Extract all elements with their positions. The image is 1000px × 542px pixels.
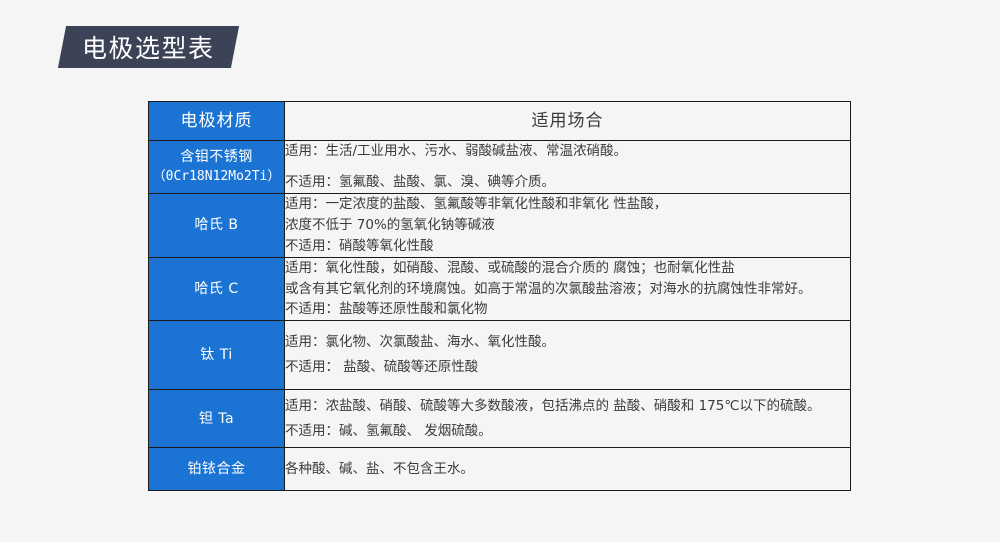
material-cell-platinum-iridium: 铂铱合金: [149, 448, 285, 491]
application-line: 或含有其它氧化剂的环境腐蚀。如高于常温的次氯酸盐溶液；对海水的抗腐蚀性非常好。: [285, 279, 850, 300]
table-row: 钛 Ti 适用：氯化物、次氯酸盐、海水、氧化性酸。 不适用： 盐酸、硫酸等还原性…: [149, 321, 851, 390]
table-row: 钽 Ta 适用：浓盐酸、硝酸、硫酸等大多数酸液，包括沸点的 盐酸、硝酸和 175…: [149, 390, 851, 448]
material-cell-hastelloy-c: 哈氏 C: [149, 257, 285, 321]
column-header-application: 适用场合: [285, 102, 851, 141]
application-line: 适用：生活/工业用水、污水、弱酸碱盐液、常温浓硝酸。: [285, 141, 850, 162]
electrode-selection-table-wrapper: 电极材质 适用场合 含钼不锈钢 （0Cr18N12Mo2Ti） 适用：生活/工业…: [148, 101, 851, 491]
table-row: 铂铱合金 各种酸、碱、盐、不包含王水。: [149, 448, 851, 491]
application-line: 不适用： 盐酸、硫酸等还原性酸: [285, 357, 850, 378]
application-line: 浓度不低于 70%的氢氧化钠等碱液: [285, 215, 850, 236]
table-row: 哈氏 B 适用：一定浓度的盐酸、氢氟酸等非氧化性酸和非氧化 性盐酸， 浓度不低于…: [149, 193, 851, 257]
material-code: （0Cr18N12Mo2Ti）: [149, 168, 284, 187]
material-name: 哈氏 C: [149, 279, 284, 299]
application-line: 各种酸、碱、盐、不包含王水。: [285, 459, 850, 480]
material-cell-tantalum: 钽 Ta: [149, 390, 285, 448]
application-line: 适用：氧化性酸，如硝酸、混酸、或硫酸的混合介质的 腐蚀；也耐氧化性盐: [285, 258, 850, 279]
application-cell-titanium: 适用：氯化物、次氯酸盐、海水、氧化性酸。 不适用： 盐酸、硫酸等还原性酸: [285, 321, 851, 390]
material-name: 含钼不锈钢: [149, 147, 284, 167]
application-line: 适用：一定浓度的盐酸、氢氟酸等非氧化性酸和非氧化 性盐酸，: [285, 194, 850, 215]
table-header-row: 电极材质 适用场合: [149, 102, 851, 141]
application-cell-hastelloy-b: 适用：一定浓度的盐酸、氢氟酸等非氧化性酸和非氧化 性盐酸， 浓度不低于 70%的…: [285, 193, 851, 257]
electrode-selection-table: 电极材质 适用场合 含钼不锈钢 （0Cr18N12Mo2Ti） 适用：生活/工业…: [148, 101, 851, 491]
application-line: 不适用：硝酸等氧化性酸: [285, 236, 850, 257]
application-line: 适用：氯化物、次氯酸盐、海水、氧化性酸。: [285, 332, 850, 353]
application-cell-tantalum: 适用：浓盐酸、硝酸、硫酸等大多数酸液，包括沸点的 盐酸、硝酸和 175℃以下的硫…: [285, 390, 851, 448]
material-name: 铂铱合金: [149, 459, 284, 479]
page-title: 电极选型表: [82, 29, 215, 65]
page-title-banner: 电极选型表: [58, 26, 239, 68]
table-row: 哈氏 C 适用：氧化性酸，如硝酸、混酸、或硫酸的混合介质的 腐蚀；也耐氧化性盐 …: [149, 257, 851, 321]
material-name: 钽 Ta: [149, 409, 284, 429]
application-cell-hastelloy-c: 适用：氧化性酸，如硝酸、混酸、或硫酸的混合介质的 腐蚀；也耐氧化性盐 或含有其它…: [285, 257, 851, 321]
application-line: 不适用：盐酸等还原性酸和氯化物: [285, 299, 850, 320]
application-line: 不适用：碱、氢氟酸、 发烟硫酸。: [285, 421, 850, 442]
application-line: 适用：浓盐酸、硝酸、硫酸等大多数酸液，包括沸点的 盐酸、硝酸和 175℃以下的硫…: [285, 396, 850, 417]
material-name: 哈氏 B: [149, 215, 284, 235]
application-line: 不适用：氢氟酸、盐酸、氯、溴、碘等介质。: [285, 172, 850, 193]
application-cell-stainless-steel: 适用：生活/工业用水、污水、弱酸碱盐液、常温浓硝酸。 不适用：氢氟酸、盐酸、氯、…: [285, 141, 851, 194]
material-name: 钛 Ti: [149, 345, 284, 365]
material-cell-titanium: 钛 Ti: [149, 321, 285, 390]
application-cell-platinum-iridium: 各种酸、碱、盐、不包含王水。: [285, 448, 851, 491]
material-cell-hastelloy-b: 哈氏 B: [149, 193, 285, 257]
table-row: 含钼不锈钢 （0Cr18N12Mo2Ti） 适用：生活/工业用水、污水、弱酸碱盐…: [149, 141, 851, 194]
column-header-material: 电极材质: [149, 102, 285, 141]
material-cell-stainless-steel: 含钼不锈钢 （0Cr18N12Mo2Ti）: [149, 141, 285, 194]
